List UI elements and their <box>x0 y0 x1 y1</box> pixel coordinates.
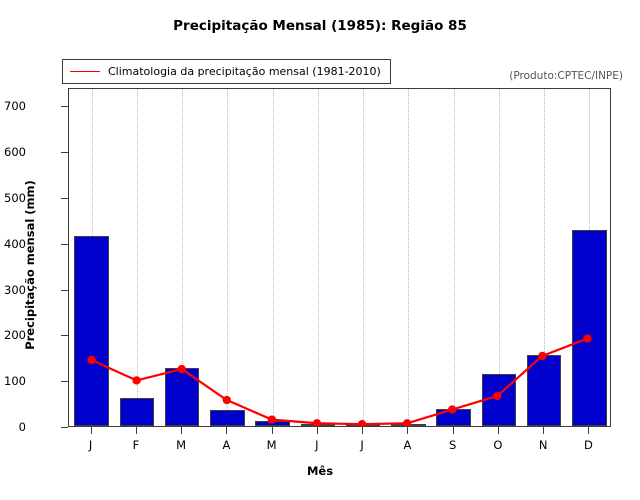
x-tick-mark-d-11 <box>588 427 589 434</box>
climatology-point-m-4 <box>268 415 276 423</box>
x-tick-label-m-4: M <box>252 438 292 452</box>
x-tick-mark-m-4 <box>272 427 273 434</box>
climatology-line-series <box>69 89 610 426</box>
x-tick-label-s-8: S <box>433 438 473 452</box>
x-tick-label-j-0: J <box>71 438 111 452</box>
plot-area <box>68 88 611 427</box>
x-tick-mark-a-3 <box>226 427 227 434</box>
legend: Climatologia da precipitação mensal (198… <box>62 59 391 84</box>
x-tick-label-a-3: A <box>206 438 246 452</box>
x-tick-mark-a-7 <box>407 427 408 434</box>
x-tick-mark-o-9 <box>498 427 499 434</box>
y-axis-label: Precipitação mensal (mm) <box>23 115 37 415</box>
climatology-point-a-3 <box>223 396 231 404</box>
plot-inner <box>69 89 610 426</box>
climatology-point-j-6 <box>358 420 366 426</box>
climatology-point-o-9 <box>493 392 501 400</box>
y-tick-mark-400 <box>61 244 68 245</box>
x-tick-label-o-9: O <box>478 438 518 452</box>
x-tick-mark-m-2 <box>181 427 182 434</box>
y-tick-label-200: 200 <box>4 328 26 342</box>
climatology-point-m-2 <box>178 365 186 373</box>
x-tick-label-d-11: D <box>568 438 608 452</box>
x-axis-label: Mês <box>0 464 640 478</box>
y-tick-label-300: 300 <box>4 283 26 297</box>
x-tick-mark-s-8 <box>453 427 454 434</box>
y-tick-mark-0 <box>61 427 68 428</box>
x-tick-mark-f-1 <box>136 427 137 434</box>
x-tick-label-m-2: M <box>161 438 201 452</box>
y-tick-label-600: 600 <box>4 145 26 159</box>
y-tick-mark-200 <box>61 335 68 336</box>
x-tick-label-a-7: A <box>387 438 427 452</box>
climatology-point-n-10 <box>538 352 546 360</box>
x-tick-mark-n-10 <box>543 427 544 434</box>
y-tick-mark-300 <box>61 290 68 291</box>
y-tick-label-100: 100 <box>4 374 26 388</box>
producer-annotation: (Produto:CPTEC/INPE) <box>509 70 623 82</box>
y-tick-label-400: 400 <box>4 237 26 251</box>
y-tick-mark-700 <box>61 106 68 107</box>
y-tick-label-500: 500 <box>4 191 26 205</box>
chart-figure: Precipitação Mensal (1985): Região 85 (P… <box>0 0 640 500</box>
y-tick-mark-100 <box>61 381 68 382</box>
climatology-point-f-1 <box>132 376 140 384</box>
x-tick-mark-j-6 <box>362 427 363 434</box>
climatology-point-j-5 <box>313 419 321 426</box>
legend-label: Climatologia da precipitação mensal (198… <box>108 65 381 78</box>
x-tick-label-n-10: N <box>523 438 563 452</box>
legend-line-swatch <box>70 71 100 72</box>
climatology-point-s-8 <box>448 405 456 413</box>
climatology-point-j-0 <box>87 356 95 364</box>
y-tick-label-0: 0 <box>19 420 26 434</box>
climatology-polyline <box>92 339 588 425</box>
chart-title: Precipitação Mensal (1985): Região 85 <box>0 18 640 34</box>
y-tick-mark-500 <box>61 198 68 199</box>
climatology-point-d-11 <box>583 334 591 342</box>
x-tick-mark-j-5 <box>317 427 318 434</box>
y-tick-label-700: 700 <box>4 99 26 113</box>
x-tick-label-j-5: J <box>297 438 337 452</box>
x-tick-mark-j-0 <box>91 427 92 434</box>
x-tick-label-j-6: J <box>342 438 382 452</box>
y-tick-mark-600 <box>61 152 68 153</box>
climatology-point-a-7 <box>403 419 411 426</box>
x-tick-label-f-1: F <box>116 438 156 452</box>
